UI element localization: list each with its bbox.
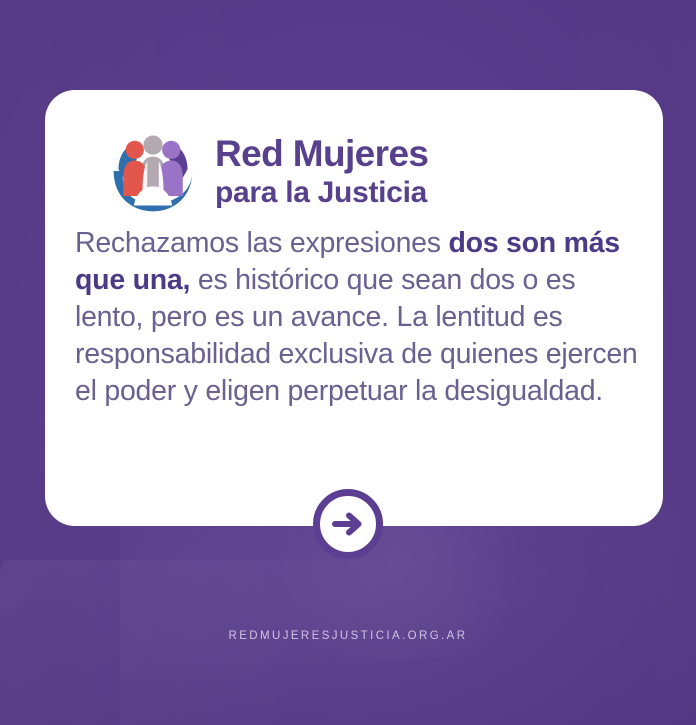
quote-text: Rechazamos las expresiones dos son más q… [75,225,641,410]
three-people-circle-logo-icon [105,123,201,219]
next-slide-button[interactable] [313,489,383,559]
brand-header: Red Mujeres para la Justicia [105,123,428,219]
brand-name: Red Mujeres para la Justicia [215,135,428,208]
brand-name-line-1: Red Mujeres [215,135,428,172]
site-url-footer: REDMUJERESJUSTICIA.ORG.AR [0,630,696,642]
content-card: Red Mujeres para la Justicia Rechazamos … [45,90,663,526]
brand-name-line-2: para la Justicia [215,178,428,208]
quote-segment-plain-1: Rechazamos las expresiones [75,227,448,259]
background-band-lower-left [0,560,465,725]
poster-canvas: Red Mujeres para la Justicia Rechazamos … [0,0,696,725]
arrow-right-icon [331,507,365,541]
